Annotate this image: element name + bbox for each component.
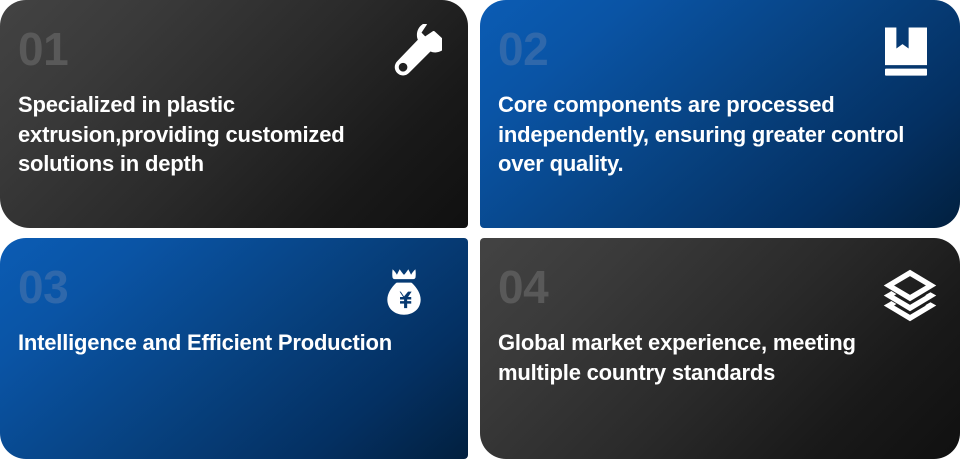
- feature-card-04[interactable]: 04 Global market experience, meeting mul…: [480, 238, 960, 459]
- card-number: 04: [498, 264, 934, 310]
- card-heading: Specialized in plastic extrusion,providi…: [18, 90, 442, 179]
- card-heading: Intelligence and Efficient Production: [18, 328, 442, 358]
- card-heading: Global market experience, meeting multip…: [498, 328, 934, 387]
- feature-card-02[interactable]: 02 Core components are processed indepen…: [480, 0, 960, 228]
- layers-stack-icon: [882, 268, 938, 324]
- wrench-icon: [386, 24, 442, 80]
- book-bookmark-icon: [878, 24, 934, 80]
- card-heading: Core components are processed independen…: [498, 90, 934, 179]
- card-number: 02: [498, 26, 934, 72]
- feature-card-grid: 01 Specialized in plastic extrusion,prov…: [0, 0, 960, 459]
- feature-card-03[interactable]: 03 Intelligence and Efficient Production: [0, 238, 468, 459]
- money-bag-yen-icon: [378, 266, 430, 318]
- card-number: 01: [18, 26, 442, 72]
- feature-card-01[interactable]: 01 Specialized in plastic extrusion,prov…: [0, 0, 468, 228]
